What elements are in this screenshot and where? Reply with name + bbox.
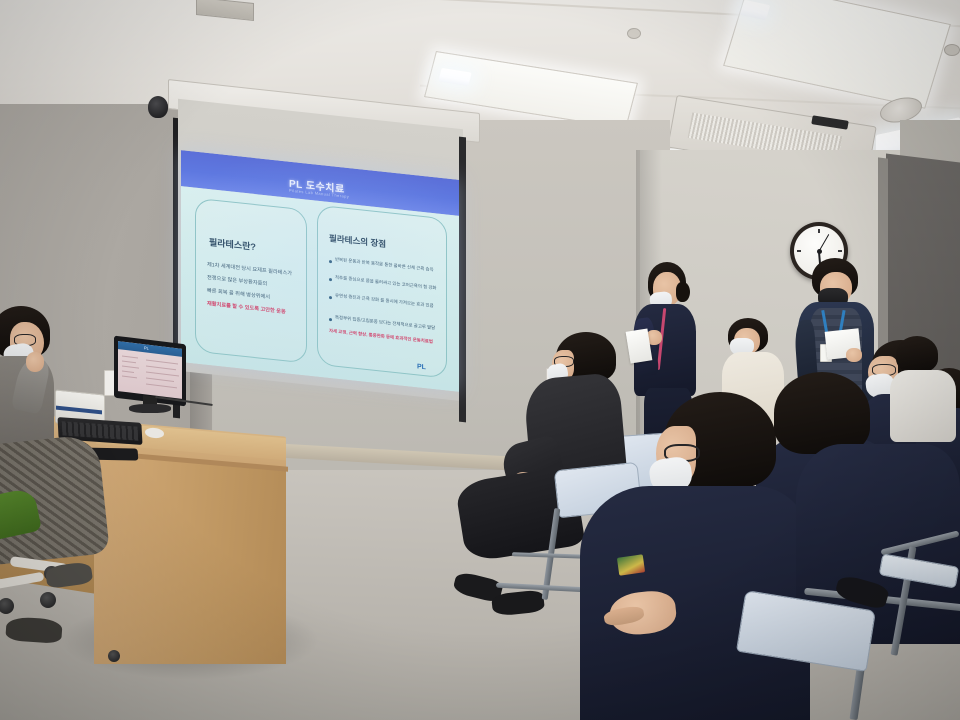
attendee-hair (896, 336, 938, 372)
desk-caster (108, 650, 120, 662)
clock-center-pin (817, 249, 822, 254)
monitor-text-line (122, 356, 138, 359)
foreground-attendee-hair (774, 372, 870, 454)
ceiling-camera-icon (148, 96, 168, 118)
clock-tick (838, 250, 842, 252)
monitor-app-title: PL (144, 345, 149, 351)
presenter-handout[interactable] (626, 328, 653, 363)
monitor-base (129, 404, 171, 413)
presenter-hair-bun (676, 282, 690, 302)
photo-scene: PL 도수치료 Pilates Lab Manual Therapy 필라테스란… (0, 0, 960, 720)
assistant-hand (846, 348, 862, 362)
monitor-text-line (122, 361, 136, 364)
attendee-white-top (890, 370, 956, 442)
monitor-text-line (122, 376, 137, 379)
monitor-text-line (122, 371, 134, 374)
monitor-text-line (122, 366, 139, 369)
desk-front-panel[interactable] (94, 448, 286, 664)
sprinkler-head (944, 44, 960, 56)
sprinkler-head (627, 28, 641, 39)
desk-worker-hand (26, 352, 44, 372)
clock-tick (797, 250, 801, 252)
uniform-patch (617, 554, 645, 575)
chair-caster (40, 592, 56, 608)
projector-glow (150, 140, 490, 400)
clock-tick (818, 229, 820, 233)
